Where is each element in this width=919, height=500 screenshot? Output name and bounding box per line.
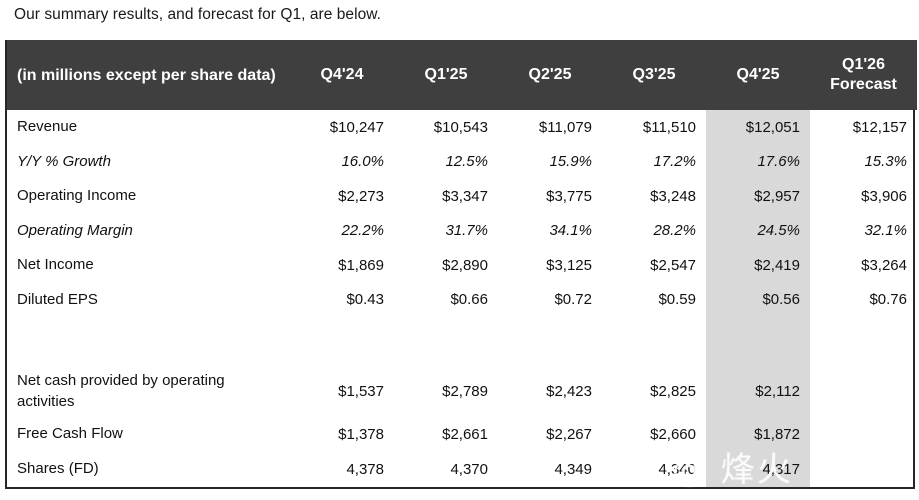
row-label: Revenue bbox=[7, 110, 290, 145]
table-cell: $2,825 bbox=[602, 365, 706, 417]
table-row: Shares (FD)4,3784,3704,3494,3404,317 bbox=[7, 452, 917, 487]
table-cell: 4,370 bbox=[394, 452, 498, 487]
column-header-label: (in millions except per share data) bbox=[7, 40, 290, 110]
table-cell bbox=[810, 452, 917, 487]
table-cell: $11,510 bbox=[602, 110, 706, 145]
table-cell: 4,378 bbox=[290, 452, 394, 487]
table-cell: 32.1% bbox=[810, 214, 917, 249]
table-cell: 12.5% bbox=[394, 145, 498, 180]
table-cell: 4,317 bbox=[706, 452, 810, 487]
table-cell: $2,419 bbox=[706, 248, 810, 283]
table-header-row: (in millions except per share data) Q4'2… bbox=[7, 40, 917, 110]
table-cell bbox=[810, 365, 917, 417]
column-header-q4-25: Q4'25 bbox=[706, 40, 810, 110]
table-cell: $0.76 bbox=[810, 283, 917, 318]
table-cell: 31.7% bbox=[394, 214, 498, 249]
row-label: Diluted EPS bbox=[7, 283, 290, 318]
column-header-q1-25: Q1'25 bbox=[394, 40, 498, 110]
column-header-q1-25-text: Q1'25 bbox=[425, 66, 468, 83]
table-row: Diluted EPS$0.43$0.66$0.72$0.59$0.56$0.7… bbox=[7, 283, 917, 318]
table-cell bbox=[394, 317, 498, 365]
table-row: Operating Income$2,273$3,347$3,775$3,248… bbox=[7, 179, 917, 214]
table-cell bbox=[810, 417, 917, 452]
table-cell: $0.59 bbox=[602, 283, 706, 318]
column-header-q3-25: Q3'25 bbox=[602, 40, 706, 110]
table-cell: $3,264 bbox=[810, 248, 917, 283]
table-cell: $1,872 bbox=[706, 417, 810, 452]
table-cell: 4,349 bbox=[498, 452, 602, 487]
table-row: Net Income$1,869$2,890$3,125$2,547$2,419… bbox=[7, 248, 917, 283]
column-header-q3-25-text: Q3'25 bbox=[633, 66, 676, 83]
table-cell: $0.43 bbox=[290, 283, 394, 318]
table-cell: $2,547 bbox=[602, 248, 706, 283]
table-header: (in millions except per share data) Q4'2… bbox=[7, 40, 917, 110]
row-label: Shares (FD) bbox=[7, 452, 290, 487]
table-row: Operating Margin22.2%31.7%34.1%28.2%24.5… bbox=[7, 214, 917, 249]
table-cell: $10,247 bbox=[290, 110, 394, 145]
table-cell: $3,347 bbox=[394, 179, 498, 214]
summary-results-table-container: (in millions except per share data) Q4'2… bbox=[5, 40, 915, 489]
table-cell: $3,125 bbox=[498, 248, 602, 283]
column-header-q4-24: Q4'24 bbox=[290, 40, 394, 110]
row-label: Y/Y % Growth bbox=[7, 145, 290, 180]
table-cell: $2,112 bbox=[706, 365, 810, 417]
table-cell: $2,273 bbox=[290, 179, 394, 214]
table-cell: 15.3% bbox=[810, 145, 917, 180]
table-cell: $1,537 bbox=[290, 365, 394, 417]
row-label bbox=[7, 317, 290, 365]
table-cell: $1,378 bbox=[290, 417, 394, 452]
table-row: Revenue$10,247$10,543$11,079$11,510$12,0… bbox=[7, 110, 917, 145]
table-cell: 22.2% bbox=[290, 214, 394, 249]
table-body: Revenue$10,247$10,543$11,079$11,510$12,0… bbox=[7, 110, 917, 487]
row-label: Net cash provided by operating activitie… bbox=[7, 365, 290, 417]
row-label: Operating Margin bbox=[7, 214, 290, 249]
table-cell: $3,248 bbox=[602, 179, 706, 214]
table-cell: $3,775 bbox=[498, 179, 602, 214]
table-cell: $2,957 bbox=[706, 179, 810, 214]
table-cell: 24.5% bbox=[706, 214, 810, 249]
row-label: Net Income bbox=[7, 248, 290, 283]
table-row: Free Cash Flow$1,378$2,661$2,267$2,660$1… bbox=[7, 417, 917, 452]
row-label: Operating Income bbox=[7, 179, 290, 214]
summary-results-table: (in millions except per share data) Q4'2… bbox=[7, 40, 917, 487]
table-cell bbox=[290, 317, 394, 365]
table-cell: 17.6% bbox=[706, 145, 810, 180]
table-cell: $12,051 bbox=[706, 110, 810, 145]
table-cell: 28.2% bbox=[602, 214, 706, 249]
table-cell: $2,660 bbox=[602, 417, 706, 452]
table-cell: $11,079 bbox=[498, 110, 602, 145]
table-cell: 15.9% bbox=[498, 145, 602, 180]
table-row: Net cash provided by operating activitie… bbox=[7, 365, 917, 417]
column-header-q1-26-text: Q1'26 bbox=[812, 55, 915, 75]
table-cell: $2,890 bbox=[394, 248, 498, 283]
table-cell: $2,423 bbox=[498, 365, 602, 417]
row-label: Free Cash Flow bbox=[7, 417, 290, 452]
table-cell: $3,906 bbox=[810, 179, 917, 214]
table-cell: 34.1% bbox=[498, 214, 602, 249]
table-cell: 17.2% bbox=[602, 145, 706, 180]
column-header-q4-25-text: Q4'25 bbox=[737, 66, 780, 83]
column-header-q1-26-forecast: Q1'26 Forecast bbox=[810, 40, 917, 110]
table-cell: $0.72 bbox=[498, 283, 602, 318]
table-row bbox=[7, 317, 917, 365]
table-cell: $0.56 bbox=[706, 283, 810, 318]
table-cell: 16.0% bbox=[290, 145, 394, 180]
column-header-q4-24-text: Q4'24 bbox=[321, 66, 364, 83]
table-cell bbox=[810, 317, 917, 365]
table-cell bbox=[706, 317, 810, 365]
column-header-q2-25-text: Q2'25 bbox=[529, 66, 572, 83]
table-cell bbox=[602, 317, 706, 365]
table-cell bbox=[498, 317, 602, 365]
intro-paragraph: Our summary results, and forecast for Q1… bbox=[14, 4, 381, 26]
table-row: Y/Y % Growth16.0%12.5%15.9%17.2%17.6%15.… bbox=[7, 145, 917, 180]
column-header-forecast-text: Forecast bbox=[812, 75, 915, 95]
table-cell: $2,661 bbox=[394, 417, 498, 452]
table-cell: $1,869 bbox=[290, 248, 394, 283]
table-cell: $2,789 bbox=[394, 365, 498, 417]
table-cell: $10,543 bbox=[394, 110, 498, 145]
table-cell: $12,157 bbox=[810, 110, 917, 145]
table-cell: $2,267 bbox=[498, 417, 602, 452]
table-cell: 4,340 bbox=[602, 452, 706, 487]
column-header-q2-25: Q2'25 bbox=[498, 40, 602, 110]
table-cell: $0.66 bbox=[394, 283, 498, 318]
